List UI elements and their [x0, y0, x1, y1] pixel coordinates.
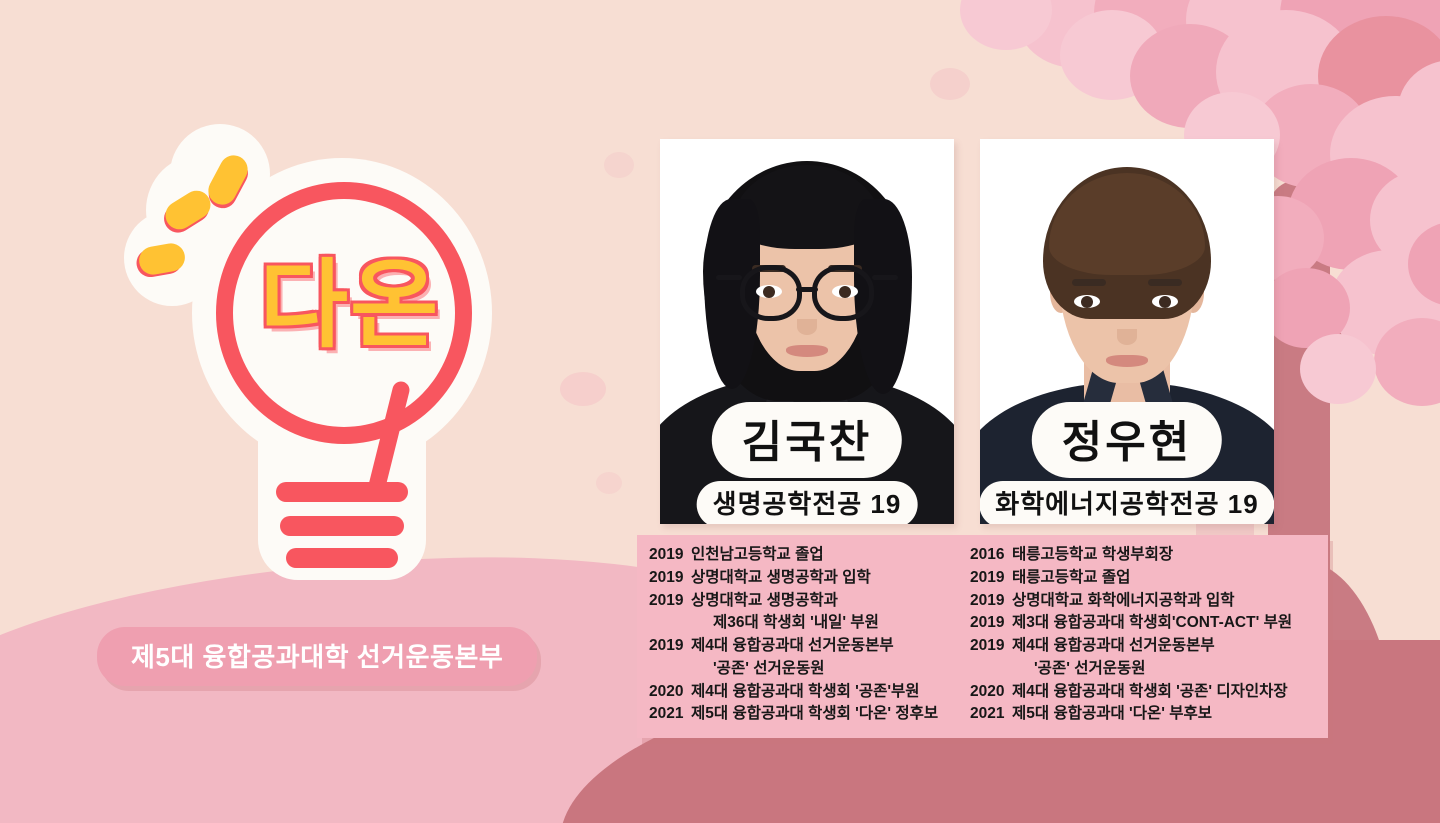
- bio-line: '공존' 선거운동원: [970, 658, 1316, 681]
- glasses-temple-icon: [872, 275, 898, 280]
- bio-year: 2019: [649, 635, 691, 658]
- glasses-lens-icon: [740, 265, 802, 321]
- glasses-lens-icon: [812, 265, 874, 321]
- candidate-major-plate-right: 화학에너지공학전공 19: [980, 481, 1274, 524]
- bulb-base-stripe: [286, 548, 398, 568]
- bio-year: 2016: [970, 544, 1012, 567]
- bio-year: 2019: [970, 635, 1012, 658]
- candidate-major-plate-left: 생명공학전공 19: [697, 481, 918, 524]
- candidate-photo-left: 김국찬 생명공학전공 19: [660, 139, 954, 524]
- portrait-eyebrow: [1072, 279, 1106, 286]
- bio-year: 2019: [649, 590, 691, 613]
- campaign-banner: 제5대 융합공과대학 선거운동본부: [97, 627, 537, 686]
- logo-wordmark: 다온: [230, 258, 470, 354]
- candidate-card-right: 정우현 화학에너지공학전공 19: [980, 139, 1274, 524]
- bio-text: 태릉고등학교 학생부회장: [1012, 544, 1316, 567]
- bio-year: 2019: [970, 612, 1012, 635]
- portrait-mouth: [1106, 355, 1148, 367]
- glasses-bridge-icon: [796, 287, 818, 292]
- bulb-base-stripe: [280, 516, 404, 536]
- glasses-temple-icon: [716, 275, 742, 280]
- bio-line: 제36대 학생회 '내일' 부원: [649, 612, 971, 635]
- bio-year: 2021: [649, 703, 691, 726]
- bio-text: '공존' 선거운동원: [691, 658, 971, 681]
- candidate-bio-right: 2016태릉고등학교 학생부회장2019태릉고등학교 졸업2019상명대학교 화…: [958, 535, 1328, 738]
- bio-line: 2019인천남고등학교 졸업: [649, 544, 971, 567]
- daon-logo: 다온: [118, 130, 548, 590]
- bio-text: 제36대 학생회 '내일' 부원: [691, 612, 971, 635]
- bio-year: 2019: [649, 544, 691, 567]
- bio-year: 2020: [649, 681, 691, 704]
- bio-line: 2019제4대 융합공과대 선거운동본부: [970, 635, 1316, 658]
- bio-year: 2019: [970, 590, 1012, 613]
- portrait-mouth: [786, 345, 828, 357]
- portrait-nose: [1117, 329, 1137, 345]
- candidate-card-left: 김국찬 생명공학전공 19: [660, 139, 954, 524]
- candidate-name-plate-right: 정우현: [1032, 402, 1222, 478]
- portrait-pupil: [1081, 296, 1093, 308]
- bio-text: 제5대 융합공과대 학생회 '다온' 정후보: [691, 703, 971, 726]
- bio-text: '공존' 선거운동원: [1012, 658, 1316, 681]
- petal: [604, 152, 634, 178]
- portrait-nose: [797, 319, 817, 335]
- bio-text: 제4대 융합공과대 학생회 '공존'부원: [691, 681, 971, 704]
- bio-line: 2016태릉고등학교 학생부회장: [970, 544, 1316, 567]
- bio-line: 2020제4대 융합공과대 학생회 '공존' 디자인차장: [970, 681, 1316, 704]
- portrait-eye: [1074, 295, 1100, 308]
- candidate-bio-left: 2019인천남고등학교 졸업2019상명대학교 생명공학과 입학2019상명대학…: [637, 535, 983, 738]
- bio-text: 제5대 융합공과대 '다온' 부후보: [1012, 703, 1316, 726]
- bio-line: 2019제3대 융합공과대 학생회'CONT-ACT' 부원: [970, 612, 1316, 635]
- bio-text: 태릉고등학교 졸업: [1012, 567, 1316, 590]
- petal: [560, 372, 606, 406]
- bio-text: 인천남고등학교 졸업: [691, 544, 971, 567]
- candidate-name-plate-left: 김국찬: [712, 402, 902, 478]
- portrait-pupil: [1159, 296, 1171, 308]
- candidate-photo-right: 정우현 화학에너지공학전공 19: [980, 139, 1274, 524]
- bio-text: 제3대 융합공과대 학생회'CONT-ACT' 부원: [1012, 612, 1316, 635]
- bio-text: 제4대 융합공과대 선거운동본부: [1012, 635, 1316, 658]
- petal: [596, 472, 622, 494]
- bio-year: 2019: [649, 567, 691, 590]
- portrait-eyebrow: [1148, 279, 1182, 286]
- bio-line: 2019상명대학교 생명공학과 입학: [649, 567, 971, 590]
- bio-text: 상명대학교 화학에너지공학과 입학: [1012, 590, 1316, 613]
- bio-line: 2021제5대 융합공과대 '다온' 부후보: [970, 703, 1316, 726]
- portrait-eye: [1152, 295, 1178, 308]
- bio-line: 2021제5대 융합공과대 학생회 '다온' 정후보: [649, 703, 971, 726]
- bio-text: 제4대 융합공과대 선거운동본부: [691, 635, 971, 658]
- bio-text: 상명대학교 생명공학과: [691, 590, 971, 613]
- bio-text: 제4대 융합공과대 학생회 '공존' 디자인차장: [1012, 681, 1316, 704]
- bio-text: 상명대학교 생명공학과 입학: [691, 567, 971, 590]
- bio-year: 2019: [970, 567, 1012, 590]
- petal: [930, 68, 970, 100]
- bio-line: 2019제4대 융합공과대 선거운동본부: [649, 635, 971, 658]
- bio-line: 2020제4대 융합공과대 학생회 '공존'부원: [649, 681, 971, 704]
- bio-line: 2019상명대학교 생명공학과: [649, 590, 971, 613]
- bio-line: 2019상명대학교 화학에너지공학과 입학: [970, 590, 1316, 613]
- bio-line: 2019태릉고등학교 졸업: [970, 567, 1316, 590]
- bulb-base-stripe: [276, 482, 408, 502]
- election-poster: 다온 제5대 융합공과대학 선거운동본부: [0, 0, 1440, 823]
- bio-line: '공존' 선거운동원: [649, 658, 971, 681]
- bio-year: 2021: [970, 703, 1012, 726]
- bio-year: 2020: [970, 681, 1012, 704]
